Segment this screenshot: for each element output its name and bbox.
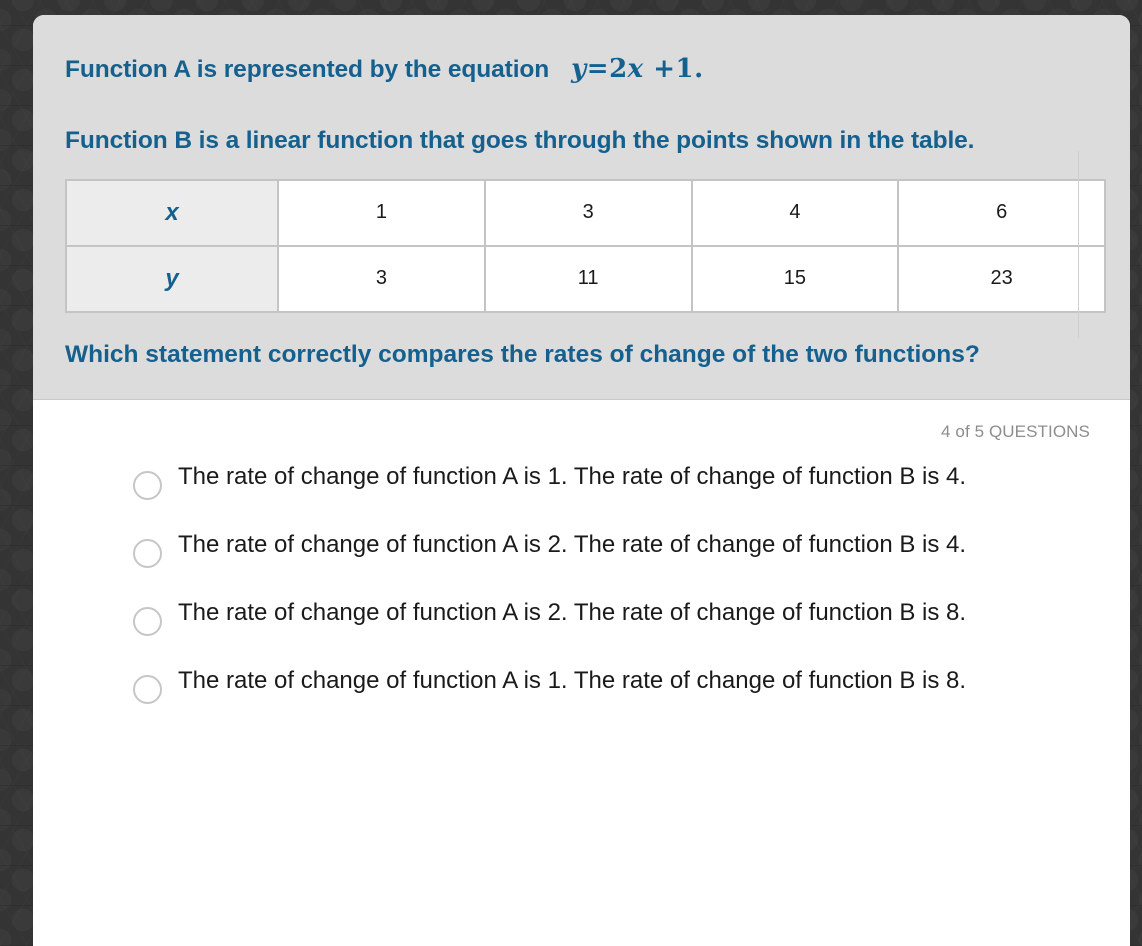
- radio-button-icon[interactable]: [133, 539, 162, 568]
- passage-line-function-a: Function A is represented by the equatio…: [65, 53, 1098, 87]
- table-cell-y-3: 23: [898, 246, 1105, 312]
- table-row-header-x: x: [66, 180, 278, 246]
- equation-coefficient: 2: [609, 54, 628, 84]
- table-row: x 1 3 4 6: [66, 180, 1105, 246]
- answer-option-a[interactable]: The rate of change of function A is 1. T…: [133, 462, 1098, 500]
- radio-button-icon[interactable]: [133, 607, 162, 636]
- table-row: y 3 11 15 23: [66, 246, 1105, 312]
- equation-constant: 1: [676, 54, 695, 84]
- points-table: x 1 3 4 6 y 3 11 15 23: [65, 179, 1106, 313]
- table-cell-y-1: 11: [485, 246, 692, 312]
- equation-period: .: [694, 54, 704, 84]
- table-cell-x-2: 4: [692, 180, 899, 246]
- answer-option-c-label: The rate of change of function A is 2. T…: [178, 598, 966, 628]
- answer-option-d-label: The rate of change of function A is 1. T…: [178, 666, 966, 696]
- table-cell-y-0: 3: [278, 246, 485, 312]
- radio-button-icon[interactable]: [133, 675, 162, 704]
- passage-line-function-b: Function B is a linear function that goe…: [65, 125, 1098, 157]
- answer-option-b[interactable]: The rate of change of function A is 2. T…: [133, 530, 1098, 568]
- equation-variable-x: x: [628, 54, 644, 84]
- answer-option-c[interactable]: The rate of change of function A is 2. T…: [133, 598, 1098, 636]
- equation-function-a: y=2x +1.: [571, 53, 704, 87]
- answers-panel: 4 of 5 QUESTIONS The rate of change of f…: [33, 400, 1130, 744]
- passage-panel: Function A is represented by the equatio…: [33, 15, 1130, 400]
- equation-equals-sign: =: [587, 54, 609, 84]
- question-progress-label: 4 of 5 QUESTIONS: [65, 422, 1098, 442]
- table-cell-x-3: 6: [898, 180, 1105, 246]
- answer-option-d[interactable]: The rate of change of function A is 1. T…: [133, 666, 1098, 704]
- table-row-header-y: y: [66, 246, 278, 312]
- equation-plus-sign: +: [653, 54, 675, 84]
- table-scroll-indicator[interactable]: [1078, 151, 1079, 338]
- radio-button-icon[interactable]: [133, 471, 162, 500]
- answer-option-a-label: The rate of change of function A is 1. T…: [178, 462, 966, 492]
- points-table-container: x 1 3 4 6 y 3 11 15 23: [65, 179, 1098, 313]
- table-cell-y-2: 15: [692, 246, 899, 312]
- table-cell-x-0: 1: [278, 180, 485, 246]
- question-card: Function A is represented by the equatio…: [33, 15, 1130, 946]
- table-cell-x-1: 3: [485, 180, 692, 246]
- question-stem: Which statement correctly compares the r…: [65, 339, 1065, 372]
- answer-option-b-label: The rate of change of function A is 2. T…: [178, 530, 966, 560]
- passage-line-function-a-text: Function A is represented by the equatio…: [65, 56, 549, 83]
- equation-lhs-variable: y: [571, 54, 587, 84]
